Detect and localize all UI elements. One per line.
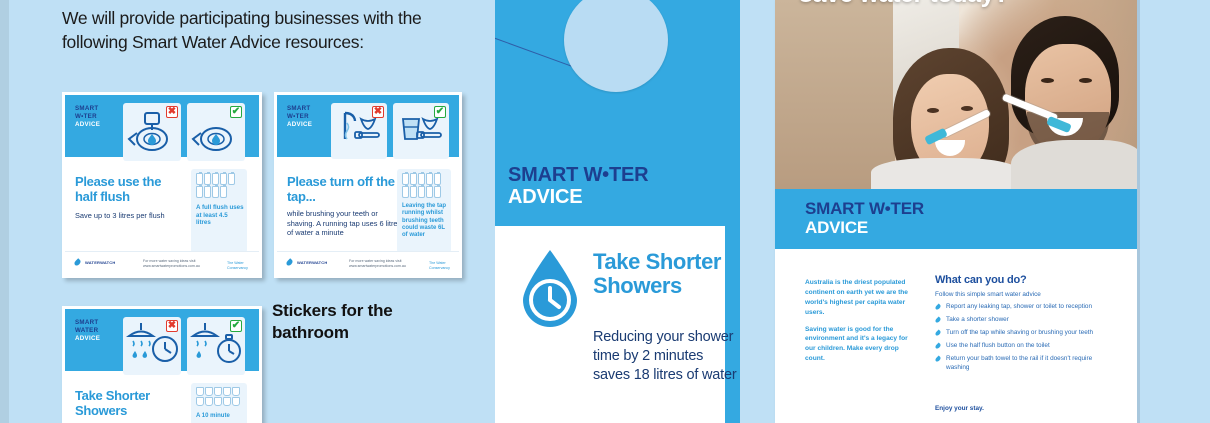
what-can-you-do-section: What can you do? Follow this simple smar… xyxy=(935,274,1110,377)
enjoy-your-stay-text: Enjoy your stay. xyxy=(935,405,984,412)
photo-man-shirt xyxy=(1011,140,1137,194)
poster-inner: SMART W•TER ADVICE ✖ xyxy=(277,95,459,275)
photo-man-eye-left xyxy=(1041,78,1054,83)
right-logo-line2: ADVICE xyxy=(805,219,924,238)
footer-text: For more water saving ideas visit www.sm… xyxy=(349,259,425,269)
intro-paragraph: We will provide participating businesses… xyxy=(62,6,462,54)
tick-mark-icon: ✔ xyxy=(230,106,242,118)
photo-woman-eye-left xyxy=(927,108,939,113)
cross-mark-icon: ✖ xyxy=(166,320,178,332)
right-background-strip xyxy=(1137,0,1210,423)
right-body-p2: Saving water is good for the environment… xyxy=(805,325,913,365)
poster-subtext: while brushing your teeth or shaving. A … xyxy=(287,209,403,238)
stickers-caption: Stickers for the bathroom xyxy=(272,300,452,345)
illustration-right: ✔ xyxy=(187,317,245,375)
list-item: Turn off the tap while shaving or brushi… xyxy=(935,329,1110,338)
fact-box: A full flush uses at least 4.5 litres xyxy=(191,169,247,253)
right-body-p1: Australia is the driest populated contin… xyxy=(805,278,913,318)
page-root: Smart Water Advice We will provide parti… xyxy=(0,0,1210,423)
photo-wall xyxy=(775,0,895,189)
right-poster[interactable]: save water today? SMART W•TER ADVICE Aus… xyxy=(775,0,1137,423)
list-item: Report any leaking tap, shower or toilet… xyxy=(935,303,1110,312)
poster-logo: SMART W•TER ADVICE xyxy=(75,105,100,128)
list-item: Return your bath towel to the rail if it… xyxy=(935,355,1110,373)
hanger-logo: SMART W•TER ADVICE xyxy=(508,165,648,208)
hanger-logo-line1: SMART W•TER xyxy=(508,165,648,187)
photo-woman-eye-right xyxy=(961,106,973,111)
tick-mark-icon: ✔ xyxy=(230,320,242,332)
photo-man-eye-right xyxy=(1079,78,1092,83)
poster-footer: WATERWATCH For more water saving ideas v… xyxy=(65,251,259,275)
poster-logo-line1: SMART xyxy=(75,105,100,113)
poster-logo-line3: ADVICE xyxy=(287,121,312,129)
what-lead: Follow this simple smart water advice xyxy=(935,291,1110,298)
poster-heading: Take Shorter Showers xyxy=(75,389,185,418)
poster-footer: WATERWATCH For more water saving ideas v… xyxy=(277,251,459,275)
fact-box: A 10 minute xyxy=(191,383,247,423)
footer-logo: WATERWATCH xyxy=(85,260,115,265)
hanger-body: Reducing your shower time by 2 minutes s… xyxy=(593,328,740,385)
fact-text: A 10 minute xyxy=(196,413,242,420)
hanger-heading: Take Shorter Showers xyxy=(593,250,740,298)
drop-icon xyxy=(285,258,293,266)
fact-box: Leaving the tap running whilst brushing … xyxy=(397,169,451,253)
poster-half-flush[interactable]: SMART W•TER ADVICE ✖ xyxy=(62,92,262,278)
illustration-right: ✔ xyxy=(393,103,449,159)
poster-logo: SMART W•TER ADVICE xyxy=(287,105,312,128)
poster-inner: SMART W•TER ADVICE ✖ xyxy=(65,95,259,275)
tick-mark-icon: ✔ xyxy=(434,106,446,118)
footer-partner: The Water Conservancy xyxy=(429,261,459,271)
right-logo: SMART W•TER ADVICE xyxy=(805,200,924,237)
fact-text: Leaving the tap running whilst brushing … xyxy=(402,203,448,240)
poster-shorter-showers[interactable]: SMART WATER ADVICE xyxy=(62,306,262,423)
illustration-right: ✔ xyxy=(187,103,245,161)
illustration-wrong: ✖ xyxy=(123,103,181,161)
poster-subtext: Save up to 3 litres per flush xyxy=(75,211,185,221)
poster-heading: Please turn off the tap... xyxy=(287,175,399,204)
list-item: Use the half flush button on the toilet xyxy=(935,342,1110,351)
poster-logo-line3: ADVICE xyxy=(75,121,100,129)
footer-logo: WATERWATCH xyxy=(297,260,327,265)
hanger-slit xyxy=(495,36,575,68)
list-item: Take a shorter shower xyxy=(935,316,1110,325)
bottle-infographic xyxy=(196,173,235,198)
fact-text: A full flush uses at least 4.5 litres xyxy=(196,204,244,227)
poster-logo-line2: WATER xyxy=(75,327,100,335)
door-hanger[interactable]: SMART W•TER ADVICE Take Shorter Showers … xyxy=(495,0,740,423)
cross-mark-icon: ✖ xyxy=(372,106,384,118)
poster-logo-line1: SMART xyxy=(287,105,312,113)
poster-logo: SMART WATER ADVICE xyxy=(75,319,100,342)
footer-partner: The Water Conservancy xyxy=(227,261,259,271)
right-page-edge xyxy=(1137,0,1140,423)
cup-infographic xyxy=(196,387,240,406)
poster-heading: Please use the half flush xyxy=(75,175,185,204)
right-logo-line1: SMART W•TER xyxy=(805,200,924,219)
couple-brushing-teeth-photo: save water today? xyxy=(775,0,1137,189)
poster-inner: SMART WATER ADVICE xyxy=(65,309,259,423)
poster-logo-line2: W•TER xyxy=(75,113,100,121)
hanger-logo-line2: ADVICE xyxy=(508,187,648,209)
left-column: Smart Water Advice We will provide parti… xyxy=(0,0,492,423)
poster-logo-line1: SMART xyxy=(75,319,100,327)
footer-text: For more water saving ideas visit www.sm… xyxy=(143,259,221,269)
what-bullet-list: Report any leaking tap, shower or toilet… xyxy=(935,303,1110,373)
cross-mark-icon: ✖ xyxy=(166,106,178,118)
what-title: What can you do? xyxy=(935,274,1110,286)
poster-logo-line3: ADVICE xyxy=(75,335,100,343)
right-headline: save water today? xyxy=(799,0,1009,8)
water-drop-clock-icon xyxy=(517,248,583,328)
left-page-edge xyxy=(0,0,9,423)
poster-turn-off-tap[interactable]: SMART W•TER ADVICE ✖ xyxy=(274,92,462,278)
poster-logo-line2: W•TER xyxy=(287,113,312,121)
illustration-wrong: ✖ xyxy=(123,317,181,375)
illustration-wrong: ✖ xyxy=(331,103,387,159)
hanger-hole xyxy=(564,0,668,92)
right-body-text: Australia is the driest populated contin… xyxy=(805,278,913,371)
bottle-infographic xyxy=(402,173,441,198)
drop-icon xyxy=(73,258,81,266)
